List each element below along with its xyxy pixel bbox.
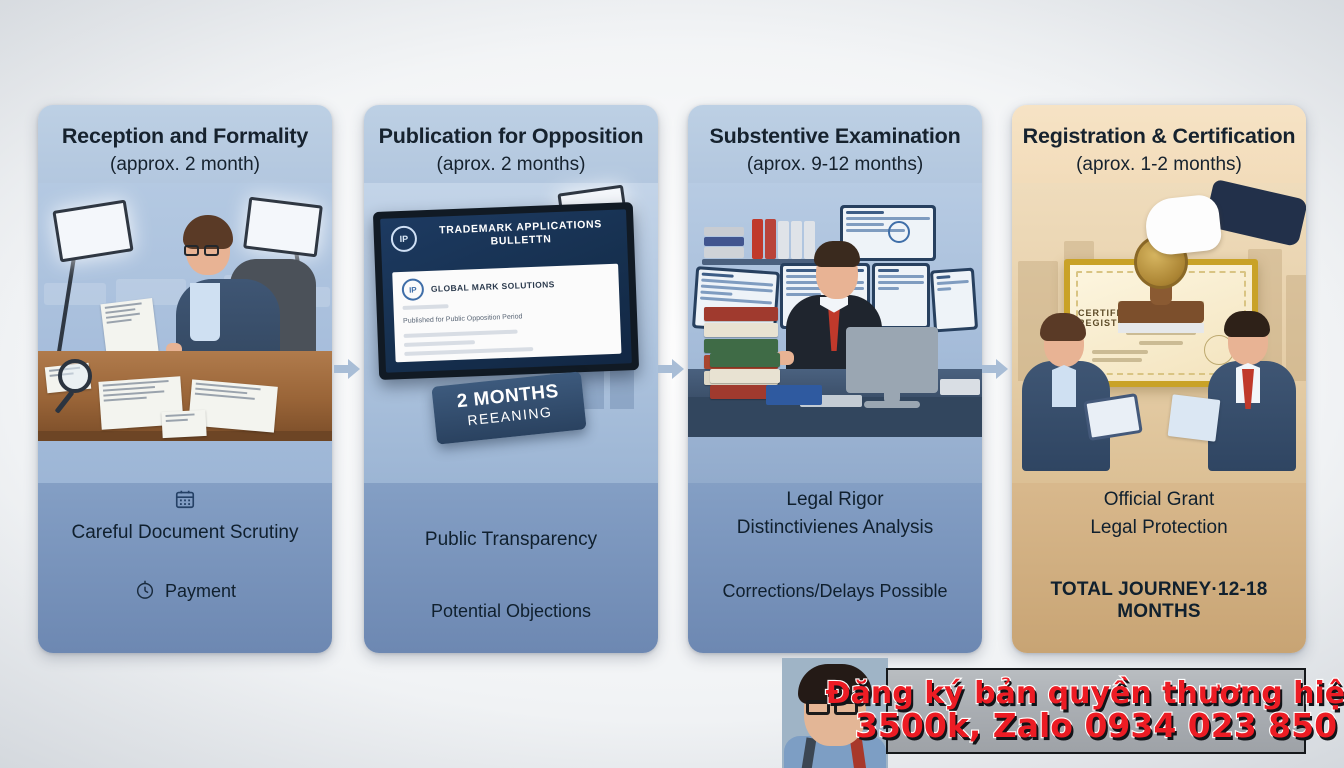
process-diagram: Reception and Formality (approx. 2 month… [0, 0, 1344, 768]
step-3-caption-1: Legal Rigor [688, 486, 982, 514]
step-card-registration[interactable]: Registration & Certification (aprox. 1-2… [1012, 105, 1306, 653]
calendar-icon [38, 488, 332, 515]
step-4-title: Registration & Certification [1022, 125, 1296, 149]
step-2-duration: (aprox. 2 months) [374, 154, 648, 176]
bulletin-display: IP TRADEMARK APPLICATIONS BULLETTN IP [373, 202, 639, 380]
bulletin-entry-card: IP GLOBAL MARK SOLUTIONS Published for P… [392, 264, 621, 363]
step-2-illustration: IP TRADEMARK APPLICATIONS BULLETTN IP [364, 183, 658, 483]
step-3-captions: Legal Rigor Distinctivienes Analysis Cor… [688, 478, 982, 653]
magnifier-icon [58, 359, 92, 393]
tablet-device [1083, 393, 1143, 441]
studio-light-right [243, 197, 323, 258]
step-card-reception[interactable]: Reception and Formality (approx. 2 month… [38, 105, 332, 653]
step-card-examination[interactable]: Substentive Examination (aprox. 9-12 mon… [688, 105, 982, 653]
step-3-title-block: Substentive Examination (aprox. 9-12 mon… [688, 105, 982, 176]
step-1-duration: (approx. 2 month) [48, 154, 322, 176]
step-2-caption-main: Public Transparency [364, 526, 658, 554]
connector-arrow-1 [334, 358, 360, 380]
step-2-captions: Public Transparency Potential Objections [364, 478, 658, 653]
ip-office-seal: IP [390, 226, 417, 253]
bulletin-applicant-name: GLOBAL MARK SOLUTIONS [431, 279, 555, 294]
step-1-payment-label: Payment [165, 581, 236, 602]
step-4-duration: (aprox. 1-2 months) [1022, 154, 1296, 176]
stopwatch-icon [134, 577, 156, 606]
ad-line-1: Đăng ký bản quyền thương hiệu [826, 678, 1344, 710]
step-1-captions: Careful Document Scrutiny Payment [38, 478, 332, 653]
connector-arrow-2 [658, 358, 684, 380]
step-2-title: Publication for Opposition [374, 125, 648, 149]
step-4-captions: Official Grant Legal Protection TOTAL JO… [1012, 478, 1306, 653]
step-1-title: Reception and Formality [48, 125, 322, 149]
bulletin-headline-2: BULLETTN [490, 233, 551, 247]
step-4-caption-2: Legal Protection [1012, 514, 1306, 542]
ad-overlay-banner[interactable]: Đăng ký bản quyền thương hiệu 3500k, Zal… [886, 668, 1306, 754]
step-2-title-block: Publication for Opposition (aprox. 2 mon… [364, 105, 658, 176]
step-3-caption-2: Distinctivienes Analysis [688, 514, 982, 542]
step-3-title: Substentive Examination [698, 125, 972, 149]
step-4-illustration: CERTIFICATE OF REGISTRATION [1012, 183, 1306, 483]
step-1-title-block: Reception and Formality (approx. 2 month… [38, 105, 332, 176]
step-4-title-block: Registration & Certification (aprox. 1-2… [1012, 105, 1306, 176]
document-sheet [1168, 394, 1221, 442]
step-1-illustration [38, 183, 332, 483]
step-4-total-journey: TOTAL JOURNEY·12-18 MONTHS [1012, 579, 1306, 623]
connector-arrow-3 [982, 358, 1008, 380]
step-3-illustration [688, 183, 982, 483]
step-4-caption-1: Official Grant [1012, 486, 1306, 514]
step-3-caption-sub: Corrections/Delays Possible [688, 581, 982, 602]
step-2-caption-sub: Potential Objections [364, 601, 658, 622]
bulletin-status-text: Published for Public Opposition Period [403, 310, 611, 325]
step-3-duration: (aprox. 9-12 months) [698, 154, 972, 176]
step-card-publication[interactable]: Publication for Opposition (aprox. 2 mon… [364, 105, 658, 653]
ad-line-2: 3500k, Zalo 0934 023 850 [855, 709, 1337, 744]
step-1-caption-main: Careful Document Scrutiny [38, 519, 332, 547]
